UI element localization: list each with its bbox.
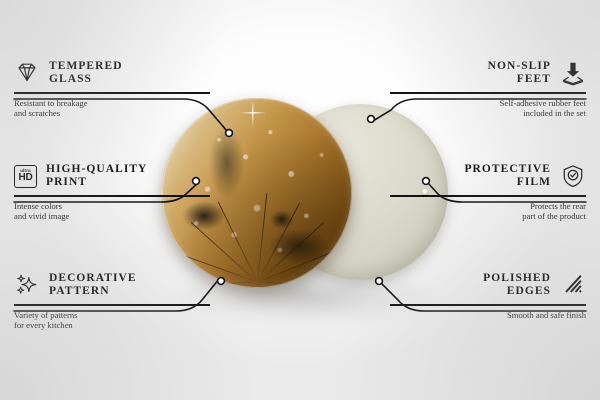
feature-tempered-glass: TEMPERED GLASS Resistant to breakage and…	[14, 58, 210, 119]
feature-divider	[14, 195, 210, 197]
diagonal-lines-icon	[560, 272, 586, 298]
feature-divider	[390, 304, 586, 306]
feature-polished-edges: POLISHED EDGES Smooth and safe finish	[390, 270, 586, 320]
feature-protective-film: PROTECTIVE FILM Protects the rear part o…	[390, 161, 586, 222]
feature-high-quality-print: ultra HD HIGH-QUALITY PRINT Intense colo…	[14, 161, 210, 222]
feature-header: PROTECTIVE FILM	[390, 161, 586, 191]
feature-header: POLISHED EDGES	[390, 270, 586, 300]
feature-title: DECORATIVE PATTERN	[49, 272, 137, 299]
infographic-canvas: TEMPERED GLASS Resistant to breakage and…	[0, 0, 600, 400]
sparkle-glint-icon	[240, 100, 266, 126]
feature-divider	[14, 304, 210, 306]
feature-decorative-pattern: DECORATIVE PATTERN Variety of patterns f…	[14, 270, 210, 331]
feature-description: Protects the rear part of the product	[390, 201, 586, 222]
feature-title: POLISHED EDGES	[483, 272, 551, 299]
feature-description: Resistant to breakage and scratches	[14, 98, 210, 119]
feature-header: NON-SLIP FEET	[390, 58, 586, 88]
feature-divider	[390, 195, 586, 197]
shield-check-icon	[560, 163, 586, 189]
sparkles-icon	[14, 272, 40, 298]
feature-title: NON-SLIP FEET	[488, 60, 551, 87]
diamond-icon	[14, 60, 40, 86]
feature-description: Intense colors and vivid image	[14, 201, 210, 222]
feature-title: TEMPERED GLASS	[49, 60, 123, 87]
ultra-hd-badge-icon: ultra HD	[14, 165, 37, 188]
feature-header: DECORATIVE PATTERN	[14, 270, 210, 300]
feature-non-slip-feet: NON-SLIP FEET Self-adhesive rubber feet …	[390, 58, 586, 119]
feature-title: PROTECTIVE FILM	[464, 163, 551, 190]
feature-title: HIGH-QUALITY PRINT	[46, 163, 147, 190]
feature-divider	[14, 92, 210, 94]
feature-header: ultra HD HIGH-QUALITY PRINT	[14, 161, 210, 191]
feature-description: Variety of patterns for every kitchen	[14, 310, 210, 331]
feature-header: TEMPERED GLASS	[14, 58, 210, 88]
feature-divider	[390, 92, 586, 94]
arrow-down-pad-icon	[560, 60, 586, 86]
feature-description: Smooth and safe finish	[390, 310, 586, 321]
feature-description: Self-adhesive rubber feet included in th…	[390, 98, 586, 119]
